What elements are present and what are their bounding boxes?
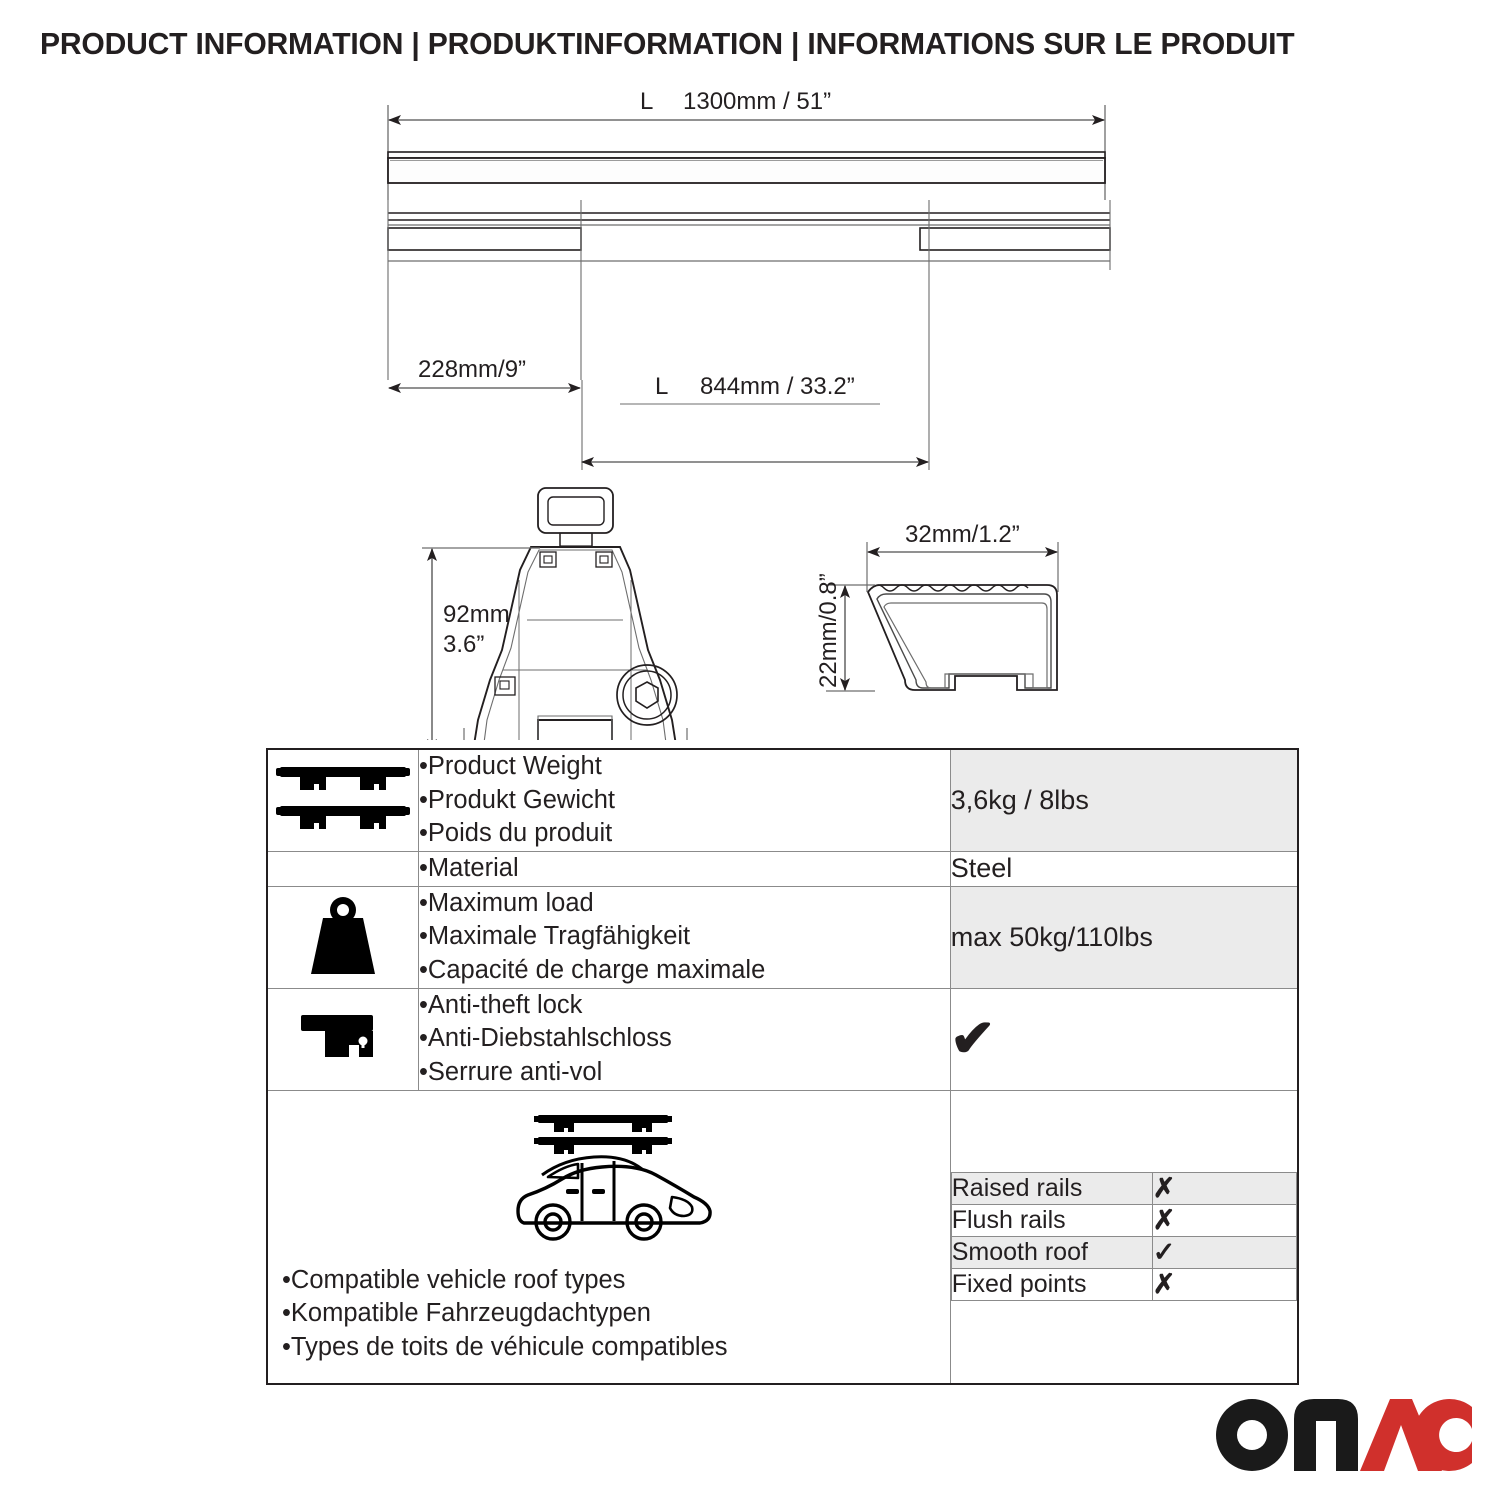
label-line: •Product Weight <box>419 750 950 784</box>
crossbars-icon <box>268 759 418 837</box>
lock-icon <box>287 1001 399 1073</box>
roof-type-row: Smooth roof ✓ <box>951 1237 1296 1269</box>
table-row: •Maximum load •Maximale Tragfähigkeit •C… <box>267 886 1298 988</box>
maxload-labels-cell: •Maximum load •Maximale Tragfähigkeit •C… <box>419 886 951 988</box>
dim-foot-height-1: 92mm <box>443 601 510 628</box>
compat-labels-cell: •Compatible vehicle roof types •Kompatib… <box>267 1090 950 1383</box>
technical-drawing: L 1300mm / 51” 228mm/9” L 844mm / 33.2” <box>0 80 1500 740</box>
label-line: •Capacité de charge maximale <box>419 954 950 988</box>
label-line: •Kompatible Fahrzeugdachtypen <box>282 1297 940 1331</box>
table-row-compatibility: •Compatible vehicle roof types •Kompatib… <box>267 1090 1298 1383</box>
roof-type-name: Smooth roof <box>951 1237 1152 1269</box>
weight-icon-cell <box>267 886 419 988</box>
label-line: •Anti-theft lock <box>419 989 950 1023</box>
roof-type-name: Fixed points <box>951 1269 1152 1301</box>
dim-length-value: 1300mm / 51” <box>683 88 831 115</box>
label-line: •Maximum load <box>419 887 950 921</box>
label-line: •Compatible vehicle roof types <box>282 1264 940 1298</box>
page-title: PRODUCT INFORMATION | PRODUKTINFORMATION… <box>40 26 1427 62</box>
roof-type-row: Fixed points ✗ <box>951 1269 1296 1301</box>
logo-letter-m <box>1294 1399 1358 1471</box>
label-line: •Produkt Gewicht <box>419 784 950 818</box>
omac-logo <box>1210 1391 1472 1482</box>
label-line: •Serrure anti-vol <box>419 1056 950 1090</box>
roof-types-cell: Raised rails ✗ Flush rails ✗ Smooth roof… <box>950 1090 1298 1383</box>
table-row: •Product Weight •Produkt Gewicht •Poids … <box>267 749 1298 851</box>
roof-type-mark: ✗ <box>1152 1173 1296 1205</box>
maxload-value: max 50kg/110lbs <box>950 886 1298 988</box>
dim-foot-height-2: 3.6” <box>443 631 484 658</box>
lock-labels-cell: •Anti-theft lock •Anti-Diebstahlschloss … <box>419 988 951 1090</box>
omac-logo-mark <box>1210 1391 1472 1477</box>
profile-cross-section <box>868 585 1057 690</box>
label-line: •Maximale Tragfähigkeit <box>419 920 950 954</box>
specification-table: •Product Weight •Produkt Gewicht •Poids … <box>266 748 1299 1385</box>
crossbar-plan-view <box>388 200 1110 470</box>
lock-icon-cell <box>267 988 419 1090</box>
roof-type-row: Flush rails ✗ <box>951 1205 1296 1237</box>
car-with-rack-icon <box>496 1105 726 1255</box>
dim-span-l: L <box>655 373 668 400</box>
checkmark-icon: ✔ <box>950 1013 996 1065</box>
dim-span-value: 844mm / 33.2” <box>700 373 855 400</box>
label-line: •Types de toits de véhicule compatibles <box>282 1331 940 1365</box>
weight-icon <box>295 892 391 978</box>
dim-length-l: L <box>640 88 653 115</box>
weight-value: 3,6kg / 8lbs <box>950 749 1298 851</box>
dim-profile-width: 32mm/1.2” <box>905 521 1020 548</box>
lock-value-cell: ✔ <box>950 988 1298 1090</box>
roof-type-name: Raised rails <box>951 1173 1152 1205</box>
material-labels-cell: •Material <box>419 851 951 886</box>
label-line: •Poids du produit <box>419 817 950 851</box>
material-value: Steel <box>950 851 1298 886</box>
roof-type-row: Raised rails ✗ <box>951 1173 1296 1205</box>
weight-labels-cell: •Product Weight •Produkt Gewicht •Poids … <box>419 749 951 851</box>
table-row: •Material Steel <box>267 851 1298 886</box>
crossbars-icon-cell <box>267 749 419 851</box>
roof-type-mark: ✓ <box>1152 1237 1296 1269</box>
roof-types-table: Raised rails ✗ Flush rails ✗ Smooth roof… <box>951 1172 1297 1301</box>
roof-type-mark: ✗ <box>1152 1205 1296 1237</box>
roof-type-mark: ✗ <box>1152 1269 1296 1301</box>
dim-end-offset: 228mm/9” <box>418 356 526 383</box>
table-row: •Anti-theft lock •Anti-Diebstahlschloss … <box>267 988 1298 1090</box>
dim-profile-height: 22mm/0.8” <box>815 573 842 688</box>
label-line: •Anti-Diebstahlschloss <box>419 1022 950 1056</box>
roof-type-name: Flush rails <box>951 1205 1152 1237</box>
material-icon-cell <box>267 851 419 886</box>
crossbar-side-view <box>388 152 1105 183</box>
label-line: •Material <box>419 852 950 886</box>
